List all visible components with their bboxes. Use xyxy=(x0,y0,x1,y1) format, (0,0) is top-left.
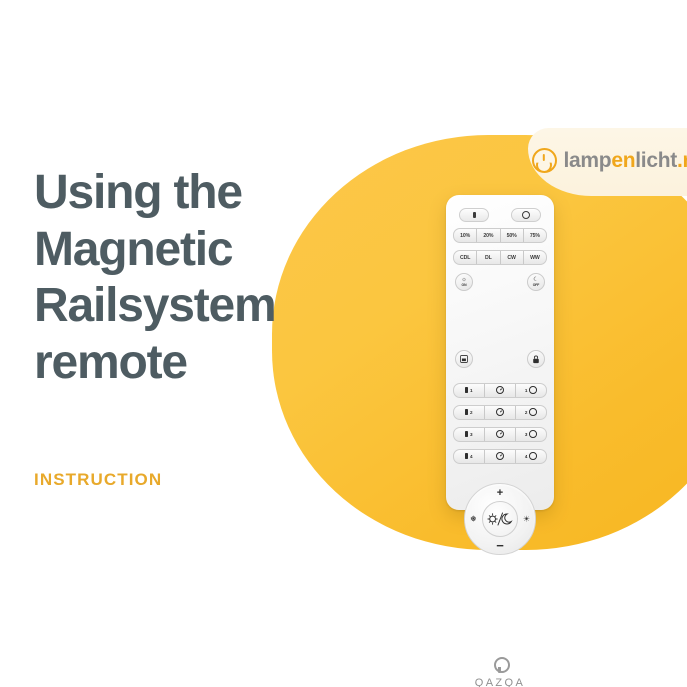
zone-1-off[interactable]: 1 xyxy=(516,384,546,397)
day-night-icon[interactable] xyxy=(482,501,518,537)
brand-text-part1: lamp xyxy=(564,149,612,172)
color-temp-ww[interactable]: WW xyxy=(524,251,546,264)
headline-line-1: Using the xyxy=(34,165,364,222)
night-off-button[interactable]: ☾ OFF xyxy=(527,273,545,291)
headline-line-3: Railsystem xyxy=(34,278,364,335)
bar-icon xyxy=(465,387,468,393)
zone-3-on[interactable]: 3 xyxy=(454,428,485,441)
ring-icon xyxy=(529,386,537,394)
night-on-button[interactable]: ☼ ON xyxy=(455,273,473,291)
bar-icon xyxy=(465,453,468,459)
night-on-label: ON xyxy=(462,283,467,287)
brightness-preset-20[interactable]: 20% xyxy=(477,229,500,242)
zone-2-on[interactable]: 2 xyxy=(454,406,485,419)
zone-1-on-label: 1 xyxy=(470,388,473,393)
zone-1-timer[interactable] xyxy=(485,384,516,397)
remote-power-off-button[interactable] xyxy=(511,208,541,222)
page-title: Using the Magnetic Railsystem remote xyxy=(34,165,364,392)
remote-control: 10% 20% 50% 75% CDL DL CW WW ☼ ON ☾ OFF xyxy=(446,195,554,510)
zone-1-off-label: 1 xyxy=(525,388,528,393)
remote-brand-label: QAZQA xyxy=(446,677,554,687)
brightness-preset-group[interactable]: 10% 20% 50% 75% xyxy=(453,228,547,243)
zone-2-off-label: 2 xyxy=(525,410,528,415)
brightness-preset-50[interactable]: 50% xyxy=(501,229,524,242)
brand-text-highlight: en xyxy=(611,149,635,172)
ring-icon xyxy=(529,430,537,438)
clock-icon xyxy=(496,430,504,438)
scene-button[interactable] xyxy=(455,350,473,368)
bar-icon xyxy=(465,409,468,415)
brand-text-part2: licht xyxy=(635,149,677,172)
zone-4-on[interactable]: 4 xyxy=(454,450,485,463)
zone-1-on[interactable]: 1 xyxy=(454,384,485,397)
zone-4-off-label: 4 xyxy=(525,454,528,459)
zone-2-off[interactable]: 2 xyxy=(516,406,546,419)
cool-white-icon[interactable]: ❅ xyxy=(470,515,477,524)
zone-row-2[interactable]: 2 2 xyxy=(453,405,547,420)
qazqa-lamp-icon xyxy=(494,657,507,674)
zone-2-on-label: 2 xyxy=(470,410,473,415)
zone-4-timer[interactable] xyxy=(485,450,516,463)
zone-3-off-label: 3 xyxy=(525,432,528,437)
lock-button[interactable] xyxy=(527,350,545,368)
clock-icon xyxy=(496,452,504,460)
brand-text-suffix: .n xyxy=(677,149,687,172)
clock-icon xyxy=(496,386,504,394)
zone-4-off[interactable]: 4 xyxy=(516,450,546,463)
brand-wordmark: lampenlicht.n xyxy=(564,149,687,173)
color-temp-cdl[interactable]: CDL xyxy=(454,251,477,264)
headline-line-4: remote xyxy=(34,335,364,392)
brand-badge: lampenlicht.n xyxy=(528,128,687,196)
color-temp-cw[interactable]: CW xyxy=(501,251,524,264)
ring-icon xyxy=(522,211,531,220)
brightness-preset-75[interactable]: 75% xyxy=(524,229,546,242)
ring-icon xyxy=(529,408,537,416)
clock-icon xyxy=(496,408,504,416)
headline-line-2: Magnetic xyxy=(34,222,364,279)
zone-3-on-label: 3 xyxy=(470,432,473,437)
color-temp-group[interactable]: CDL DL CW WW xyxy=(453,250,547,265)
bar-icon xyxy=(473,212,476,219)
zone-row-4[interactable]: 4 4 xyxy=(453,449,547,464)
bar-icon xyxy=(465,431,468,437)
zone-row-3[interactable]: 3 3 xyxy=(453,427,547,442)
day-night-glyph xyxy=(487,511,513,527)
control-wheel[interactable]: + − ❅ ☀ xyxy=(464,483,536,555)
remote-brand: QAZQA xyxy=(446,657,554,687)
brightness-preset-10[interactable]: 10% xyxy=(454,229,477,242)
zone-3-timer[interactable] xyxy=(485,428,516,441)
color-temp-dl[interactable]: DL xyxy=(477,251,500,264)
zone-3-off[interactable]: 3 xyxy=(516,428,546,441)
warm-white-icon[interactable]: ☀ xyxy=(523,515,530,524)
scene-icon xyxy=(460,355,468,363)
zone-4-on-label: 4 xyxy=(470,454,473,459)
slide-canvas: lampenlicht.n Using the Magnetic Railsys… xyxy=(0,0,687,687)
brightness-up-button[interactable]: + xyxy=(497,489,503,498)
power-button-icon xyxy=(532,148,557,173)
kicker-label: INSTRUCTION xyxy=(34,470,162,490)
zone-row-1[interactable]: 1 1 xyxy=(453,383,547,398)
remote-power-on-button[interactable] xyxy=(459,208,489,222)
ring-icon xyxy=(529,452,537,460)
lock-icon xyxy=(532,355,540,364)
zone-2-timer[interactable] xyxy=(485,406,516,419)
brightness-down-button[interactable]: − xyxy=(496,541,504,550)
night-off-label: OFF xyxy=(533,283,539,287)
